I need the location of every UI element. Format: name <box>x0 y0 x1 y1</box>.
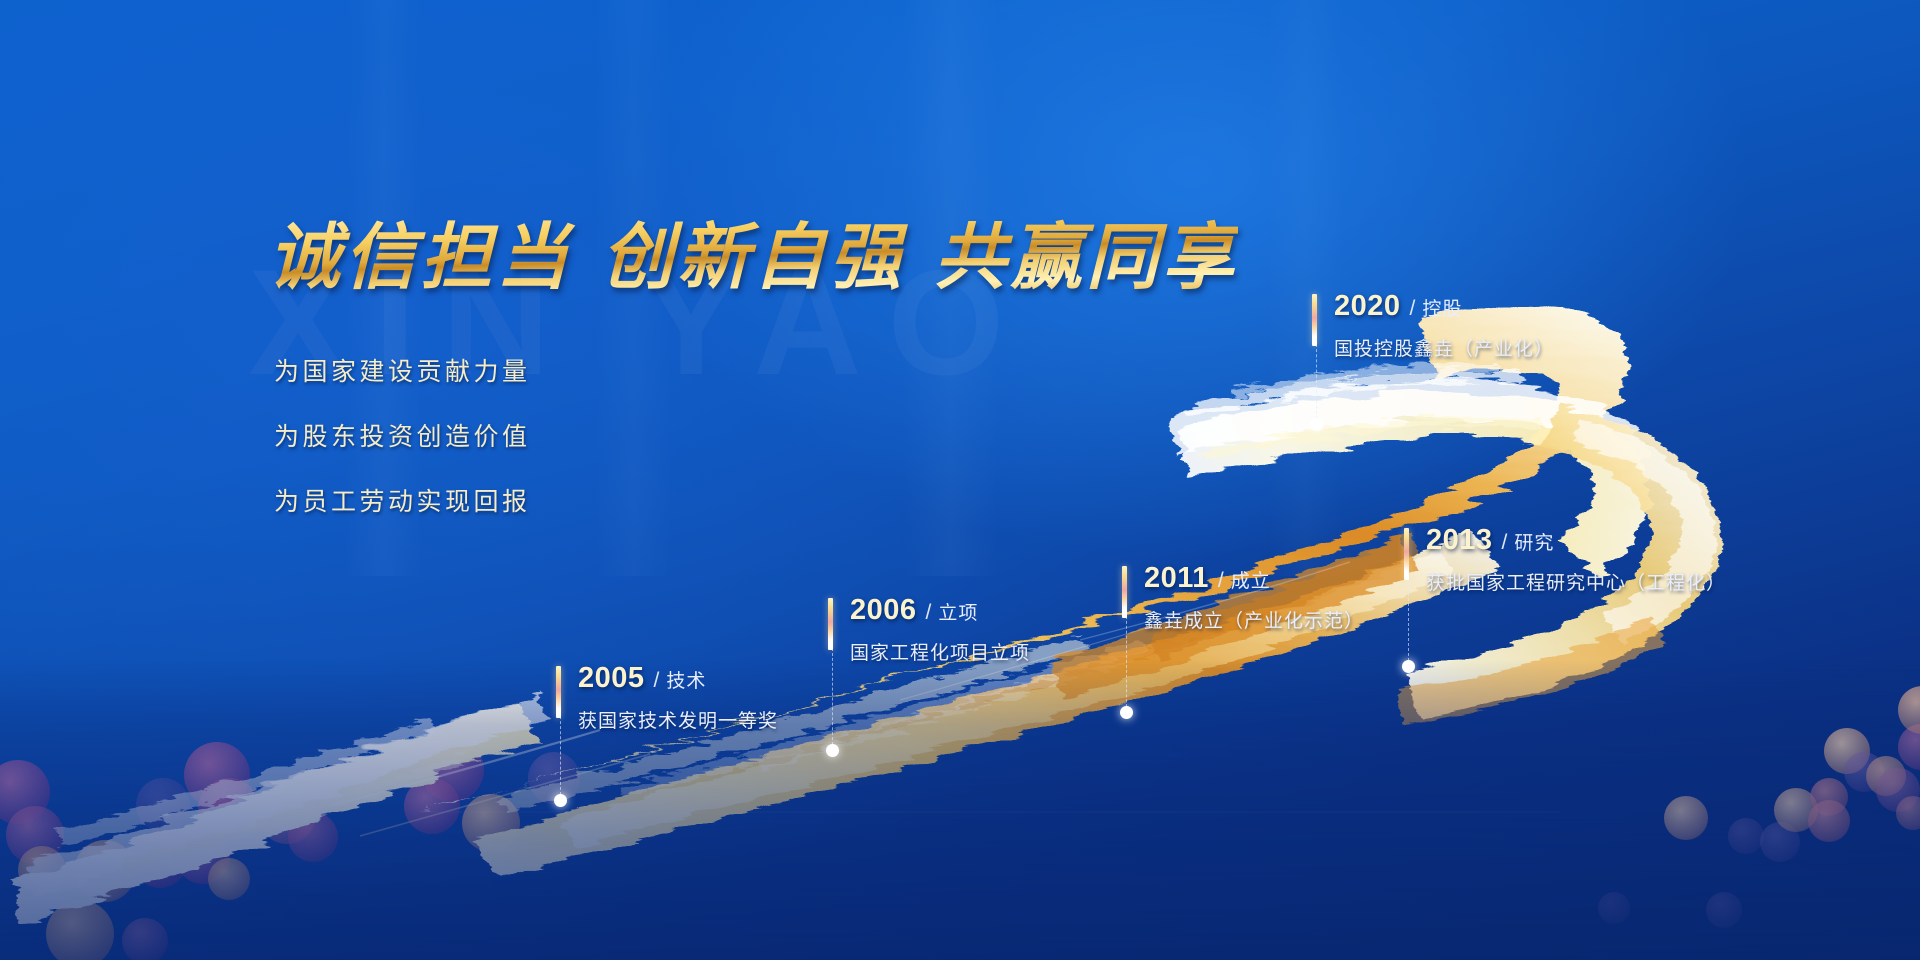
bokeh-circle <box>136 778 190 832</box>
timeline-year-row: 2013 / 研究 <box>1426 524 1726 557</box>
timeline-text-block: 2011 / 成立 鑫垚成立（产业化示范） <box>1144 562 1364 633</box>
slogan-line: 为国家建设贡献力量 <box>274 352 531 388</box>
timeline-description: 获批国家工程研究中心（工程化） <box>1426 568 1726 595</box>
bokeh-circle <box>462 794 520 852</box>
timeline-year: 2013 <box>1426 524 1493 557</box>
bokeh-circle <box>1876 768 1920 812</box>
timeline-connector-2006 <box>832 648 833 750</box>
timeline-description: 国家工程化项目立项 <box>850 638 1030 665</box>
bokeh-circle <box>18 846 66 894</box>
bokeh-circle <box>122 918 168 960</box>
page-title: 诚信担当 创新自强 共赢同享 <box>268 198 1238 303</box>
bokeh-circle <box>0 760 50 824</box>
slogan-line: 为股东投资创造价值 <box>274 417 531 453</box>
brush-loop-warm <box>1400 614 1666 726</box>
timeline-year: 2011 <box>1144 562 1209 595</box>
timeline-accent-bar <box>1312 294 1317 346</box>
timeline-year: 2020 <box>1334 290 1401 323</box>
timeline-separator: / <box>654 669 660 693</box>
banner-canvas: XIN YAO 诚信担当 创新自强 共赢同享 为国家建设贡献力量 为股东投资创造… <box>0 0 1920 960</box>
timeline-text-block: 2005 / 技术 获国家技术发明一等奖 <box>578 662 778 733</box>
timeline-accent-bar <box>1122 566 1127 618</box>
timeline-year-row: 2011 / 成立 <box>1144 562 1364 595</box>
bokeh-circle <box>1664 796 1708 840</box>
timeline-year: 2006 <box>850 594 917 627</box>
timeline-connector-2005 <box>560 716 561 800</box>
bokeh-circle <box>132 832 188 888</box>
timeline-year-row: 2005 / 技术 <box>578 662 778 695</box>
bokeh-circle <box>1760 822 1800 862</box>
timeline-connector-2013 <box>1408 578 1409 666</box>
timeline-text-block: 2006 / 立项 国家工程化项目立项 <box>850 594 1030 665</box>
timeline-description: 国投控股鑫垚（产业化） <box>1334 334 1554 361</box>
timeline-category: 成立 <box>1231 566 1271 593</box>
timeline-separator: / <box>1410 297 1416 321</box>
bokeh-circle <box>176 830 230 884</box>
timeline-accent-bar <box>828 598 833 650</box>
timeline-category: 技术 <box>666 666 706 693</box>
bokeh-circle <box>404 778 460 834</box>
timeline-dot-2020 <box>1310 418 1323 431</box>
timeline-category: 控股 <box>1422 294 1462 321</box>
brush-tail-speckles-left <box>56 718 464 872</box>
timeline-accent-bar <box>1404 528 1409 580</box>
timeline-connector-2020 <box>1316 344 1317 424</box>
timeline-year-row: 2020 / 控股 <box>1334 290 1554 323</box>
timeline-dot-2011 <box>1120 706 1133 719</box>
bokeh-circle <box>1824 728 1870 774</box>
timeline-connector-2011 <box>1126 616 1127 712</box>
bokeh-circle <box>1808 800 1850 842</box>
bokeh-circle <box>1844 752 1884 792</box>
timeline-category: 立项 <box>938 598 978 625</box>
bokeh-circle <box>74 840 136 902</box>
bokeh-circle <box>1810 778 1848 816</box>
bokeh-circle <box>198 778 260 840</box>
timeline-dot-2005 <box>554 794 567 807</box>
timeline-separator: / <box>1502 531 1508 555</box>
timeline-separator: / <box>926 601 932 625</box>
brush-tail-lower-left <box>14 692 548 922</box>
timeline-description: 鑫垚成立（产业化示范） <box>1144 606 1364 633</box>
timeline-text-block: 2013 / 研究 获批国家工程研究中心（工程化） <box>1426 524 1726 595</box>
slogan-line: 为员工劳动实现回报 <box>274 482 531 518</box>
bokeh-circle <box>1728 818 1764 854</box>
background-lower-band <box>0 660 1920 960</box>
bokeh-circle <box>208 858 250 900</box>
bokeh-circle <box>6 806 64 864</box>
timeline-description: 获国家技术发明一等奖 <box>578 706 778 733</box>
timeline-category: 研究 <box>1514 528 1554 555</box>
bokeh-circle <box>1598 892 1630 924</box>
bokeh-circle <box>1774 788 1818 832</box>
timeline-separator: / <box>1218 569 1224 593</box>
timeline-dot-2013 <box>1402 660 1415 673</box>
bokeh-circle <box>288 812 338 862</box>
bokeh-circle <box>1866 756 1906 796</box>
bokeh-circle <box>258 786 316 844</box>
slogan-list: 为国家建设贡献力量 为股东投资创造价值 为员工劳动实现回报 <box>274 352 531 547</box>
bokeh-circle <box>1706 892 1742 928</box>
bokeh-circle <box>1898 686 1920 734</box>
bokeh-circle <box>184 742 250 808</box>
bokeh-circle <box>420 738 484 802</box>
bokeh-circle <box>1898 724 1920 770</box>
timeline-dot-2006 <box>826 744 839 757</box>
timeline-year-row: 2006 / 立项 <box>850 594 1030 627</box>
timeline-accent-bar <box>556 666 561 718</box>
brush-upper-speckles <box>1185 363 1542 460</box>
timeline-year: 2005 <box>578 662 645 695</box>
bokeh-circle <box>46 900 114 960</box>
timeline-text-block: 2020 / 控股 国投控股鑫垚（产业化） <box>1334 290 1554 361</box>
bokeh-circle <box>1896 796 1920 830</box>
